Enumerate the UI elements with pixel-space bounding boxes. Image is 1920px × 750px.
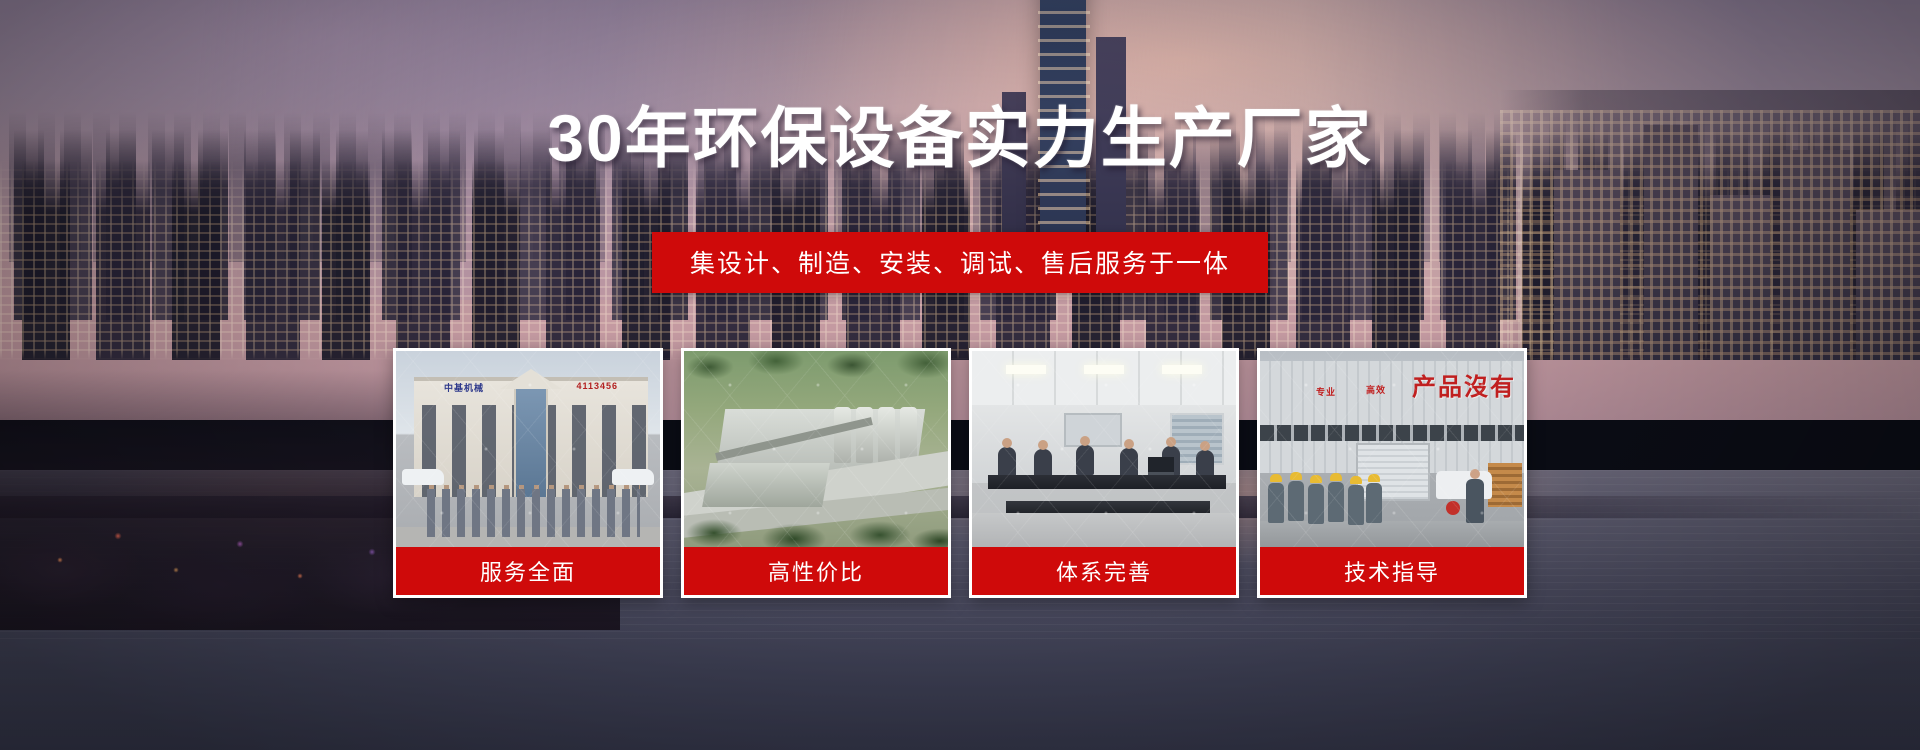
card-photo-factory-workers: 产品沒有 专业 高效 [1260,351,1524,547]
background-trees [684,351,948,411]
office-desk-front [1006,501,1210,513]
banner-subtitle: 集设计、制造、安装、调试、售后服务于一体 [652,232,1268,293]
card-caption: 服务全面 [396,547,660,595]
card-photo-office-building: 中基机械 4113456 [396,351,660,547]
building-atrium [514,385,548,497]
ceiling-light-2 [1084,365,1124,374]
aerial-plant-illustration [684,351,948,547]
card-photo-office-interior [972,351,1236,547]
worker [1268,483,1284,523]
office-floor [972,513,1236,547]
feature-card-row: 中基机械 4113456 服务全面 [0,348,1920,598]
factory-wall-slogan-small-2: 高效 [1366,383,1386,396]
feature-card[interactable]: 高性价比 [681,348,951,598]
worker [1348,485,1364,525]
staff-row [424,489,640,537]
silo-3 [878,407,895,463]
card-caption: 体系完善 [972,547,1236,595]
card-caption: 技术指导 [1260,547,1524,595]
building-sign-text: 中基机械 [444,381,484,394]
card-caption: 高性价比 [684,547,948,595]
worker-group [1266,465,1386,527]
banner-subtitle-wrap: 集设计、制造、安装、调试、售后服务于一体 [0,232,1920,293]
office-person [1120,448,1138,478]
office-person [998,447,1016,477]
feature-card[interactable]: 产品沒有 专业 高效 [1257,348,1527,598]
wall-board [1064,413,1122,447]
banner-headline: 30年环保设备实力生产厂家 [0,104,1920,173]
factory-wall-slogan-small-1: 专业 [1316,385,1336,398]
worker [1328,482,1344,522]
parked-car-left [402,469,444,485]
office-desk-back [988,475,1226,489]
factory-window-strip [1260,425,1524,441]
stacked-lumber [1488,463,1522,507]
parked-car-right [612,469,654,485]
worker [1288,481,1304,521]
silo-1 [834,407,851,463]
feature-card[interactable]: 体系完善 [969,348,1239,598]
ceiling-light-1 [1006,365,1046,374]
silo-2 [856,407,873,463]
office-ceiling [972,351,1236,405]
office-building-illustration: 中基机械 4113456 [396,351,660,547]
supervisor [1466,479,1484,523]
foreground-trees [684,491,948,547]
banner-content: 30年环保设备实力生产厂家 集设计、制造、安装、调试、售后服务于一体 中基机械 … [0,0,1920,750]
desk-monitor [1148,457,1174,475]
office-person [1076,445,1094,475]
silo-4 [900,407,917,463]
ceiling-light-3 [1162,365,1202,374]
feature-card[interactable]: 中基机械 4113456 服务全面 [393,348,663,598]
factory-illustration: 产品沒有 专业 高效 [1260,351,1524,547]
building-phone-text: 4113456 [576,381,618,391]
office-interior-illustration [972,351,1236,547]
worker [1308,484,1324,524]
card-photo-aerial-plant [684,351,948,547]
factory-wall-slogan: 产品沒有 [1412,367,1516,402]
red-helmet [1446,501,1460,515]
worker [1366,483,1382,523]
promo-banner: 30年环保设备实力生产厂家 集设计、制造、安装、调试、售后服务于一体 中基机械 … [0,0,1920,750]
